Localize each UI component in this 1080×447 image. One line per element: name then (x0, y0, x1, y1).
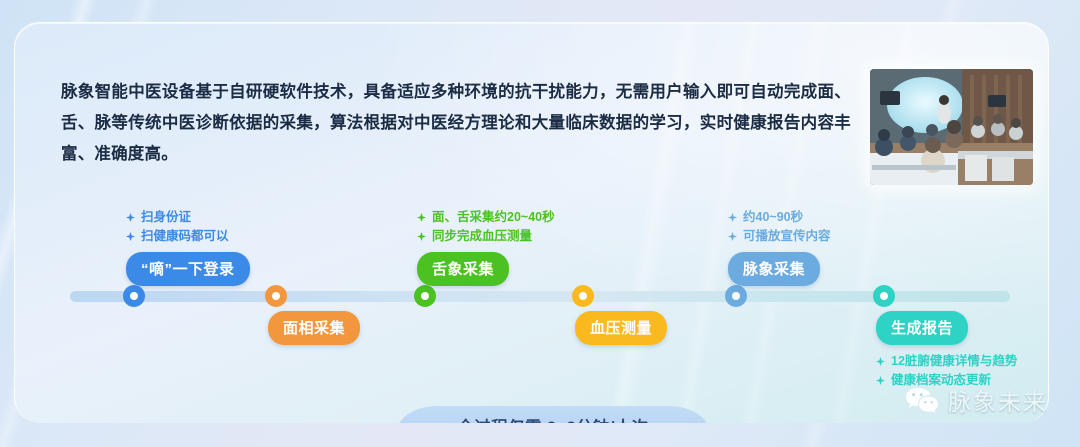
bullet-text: 约40~90秒 (743, 208, 803, 227)
timeline-step-blood-pressure: 血压测量 (575, 311, 667, 345)
timeline-node-center (421, 292, 429, 300)
intro-paragraph: 脉象智能中医设备基于自研硬软件技术，具备适应多种环境的抗干扰能力，无需用户输入即… (61, 77, 851, 170)
step-pill-blood-pressure[interactable]: 血压测量 (575, 311, 667, 345)
bullet-text: 12脏腑健康详情与趋势 (891, 352, 1017, 371)
timeline-node-login[interactable] (123, 285, 145, 307)
timeline-step-tongue-capture: 面、舌采集约20~40秒同步完成血压测量舌象采集 (417, 208, 555, 286)
step-pill-tongue-capture[interactable]: 舌象采集 (417, 252, 509, 286)
brand-watermark: 脉象未来 (905, 383, 1048, 417)
timeline-rail (70, 291, 1010, 302)
bullet-marker-icon (126, 232, 135, 241)
step-pill-generate-report[interactable]: 生成报告 (876, 311, 968, 345)
timeline-node-center (880, 292, 888, 300)
timeline-node-center (579, 292, 587, 300)
timeline-step-generate-report: 生成报告12脏腑健康详情与趋势健康档案动态更新 (876, 311, 1017, 390)
bullet-marker-icon (728, 213, 737, 222)
step-bullet: 面、舌采集约20~40秒 (417, 208, 555, 227)
bullet-marker-icon (728, 232, 737, 241)
timeline-node-pulse-capture[interactable] (725, 285, 747, 307)
timeline-node-generate-report[interactable] (873, 285, 895, 307)
bullet-marker-icon (876, 376, 885, 385)
step-bullets-tongue-capture: 面、舌采集约20~40秒同步完成血压测量 (417, 208, 555, 246)
step-pill-face-capture[interactable]: 面相采集 (268, 311, 360, 345)
timeline-step-login: 扫身份证扫健康码都可以“嘀”一下登录 (126, 208, 250, 286)
duration-banner-text: 全过程仅需 2~3分钟/人次 (457, 414, 648, 423)
timeline-step-face-capture: 面相采集 (268, 311, 360, 345)
timeline-node-tongue-capture[interactable] (414, 285, 436, 307)
step-bullet: 12脏腑健康详情与趋势 (876, 352, 1017, 371)
step-bullet: 约40~90秒 (728, 208, 831, 227)
timeline-node-face-capture[interactable] (265, 285, 287, 307)
timeline-node-center (732, 292, 740, 300)
event-photo (870, 69, 1033, 185)
bullet-text: 可播放宣传内容 (743, 227, 831, 246)
bullet-text: 扫健康码都可以 (141, 227, 229, 246)
feature-card: 脉象智能中医设备基于自研硬软件技术，具备适应多种环境的抗干扰能力，无需用户输入即… (14, 22, 1049, 423)
step-bullets-login: 扫身份证扫健康码都可以 (126, 208, 250, 246)
timeline-node-center (130, 292, 138, 300)
duration-banner: 全过程仅需 2~3分钟/人次 (397, 406, 709, 423)
timeline-step-pulse-capture: 约40~90秒可播放宣传内容脉象采集 (728, 208, 831, 286)
bullet-text: 面、舌采集约20~40秒 (432, 208, 555, 227)
timeline-node-center (272, 292, 280, 300)
step-pill-pulse-capture[interactable]: 脉象采集 (728, 252, 820, 286)
bullet-marker-icon (876, 357, 885, 366)
step-bullet: 可播放宣传内容 (728, 227, 831, 246)
step-pill-login[interactable]: “嘀”一下登录 (126, 252, 250, 286)
step-bullet: 扫身份证 (126, 208, 250, 227)
step-bullet: 同步完成血压测量 (417, 227, 555, 246)
bullet-marker-icon (126, 213, 135, 222)
bullet-marker-icon (417, 232, 426, 241)
step-bullet: 扫健康码都可以 (126, 227, 250, 246)
bullet-text: 扫身份证 (141, 208, 191, 227)
brand-name: 脉象未来 (948, 383, 1048, 417)
bullet-marker-icon (417, 213, 426, 222)
wechat-icon (905, 387, 939, 414)
bullet-text: 同步完成血压测量 (432, 227, 532, 246)
timeline-node-blood-pressure[interactable] (572, 285, 594, 307)
step-bullets-pulse-capture: 约40~90秒可播放宣传内容 (728, 208, 831, 246)
